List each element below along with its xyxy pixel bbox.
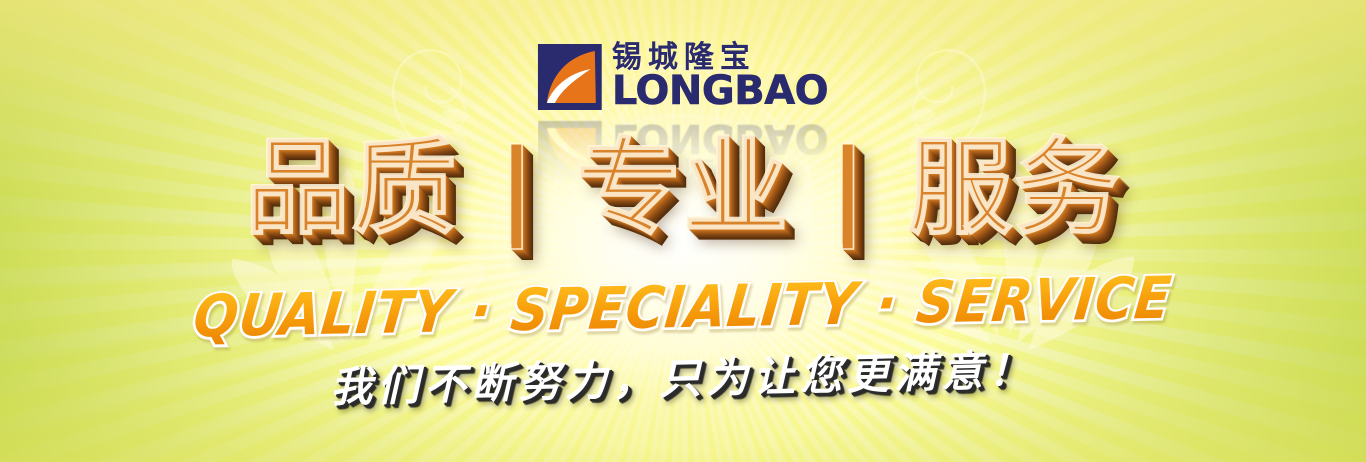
logo-english-name: LONGBAO <box>612 71 828 111</box>
logo-wordmark: 锡城隆宝 LONGBAO <box>612 42 828 111</box>
english-subline: QUALITY · SPECIALITY · SERVICE QUALITY ·… <box>0 276 1366 338</box>
tagline: 我们不断努力，只为让您更满意！ <box>0 352 1366 406</box>
english-subline-outline: QUALITY · SPECIALITY · SERVICE <box>191 267 1175 348</box>
logo-sail-mark-icon <box>538 44 602 110</box>
company-logo[interactable]: 锡城隆宝 LONGBAO <box>538 42 828 111</box>
promo-banner: 锡城隆宝 LONGBAO 锡城隆宝 LONGBAO 品质 | 专业 | 服务 品… <box>0 0 1366 462</box>
headline-text: 品质 | 专业 | 服务 <box>245 132 1122 244</box>
tagline-text: 我们不断努力，只为让您更满意！ <box>330 343 1036 414</box>
headline-3d: 品质 | 专业 | 服务 品质 | 专业 | 服务 <box>0 132 1366 244</box>
